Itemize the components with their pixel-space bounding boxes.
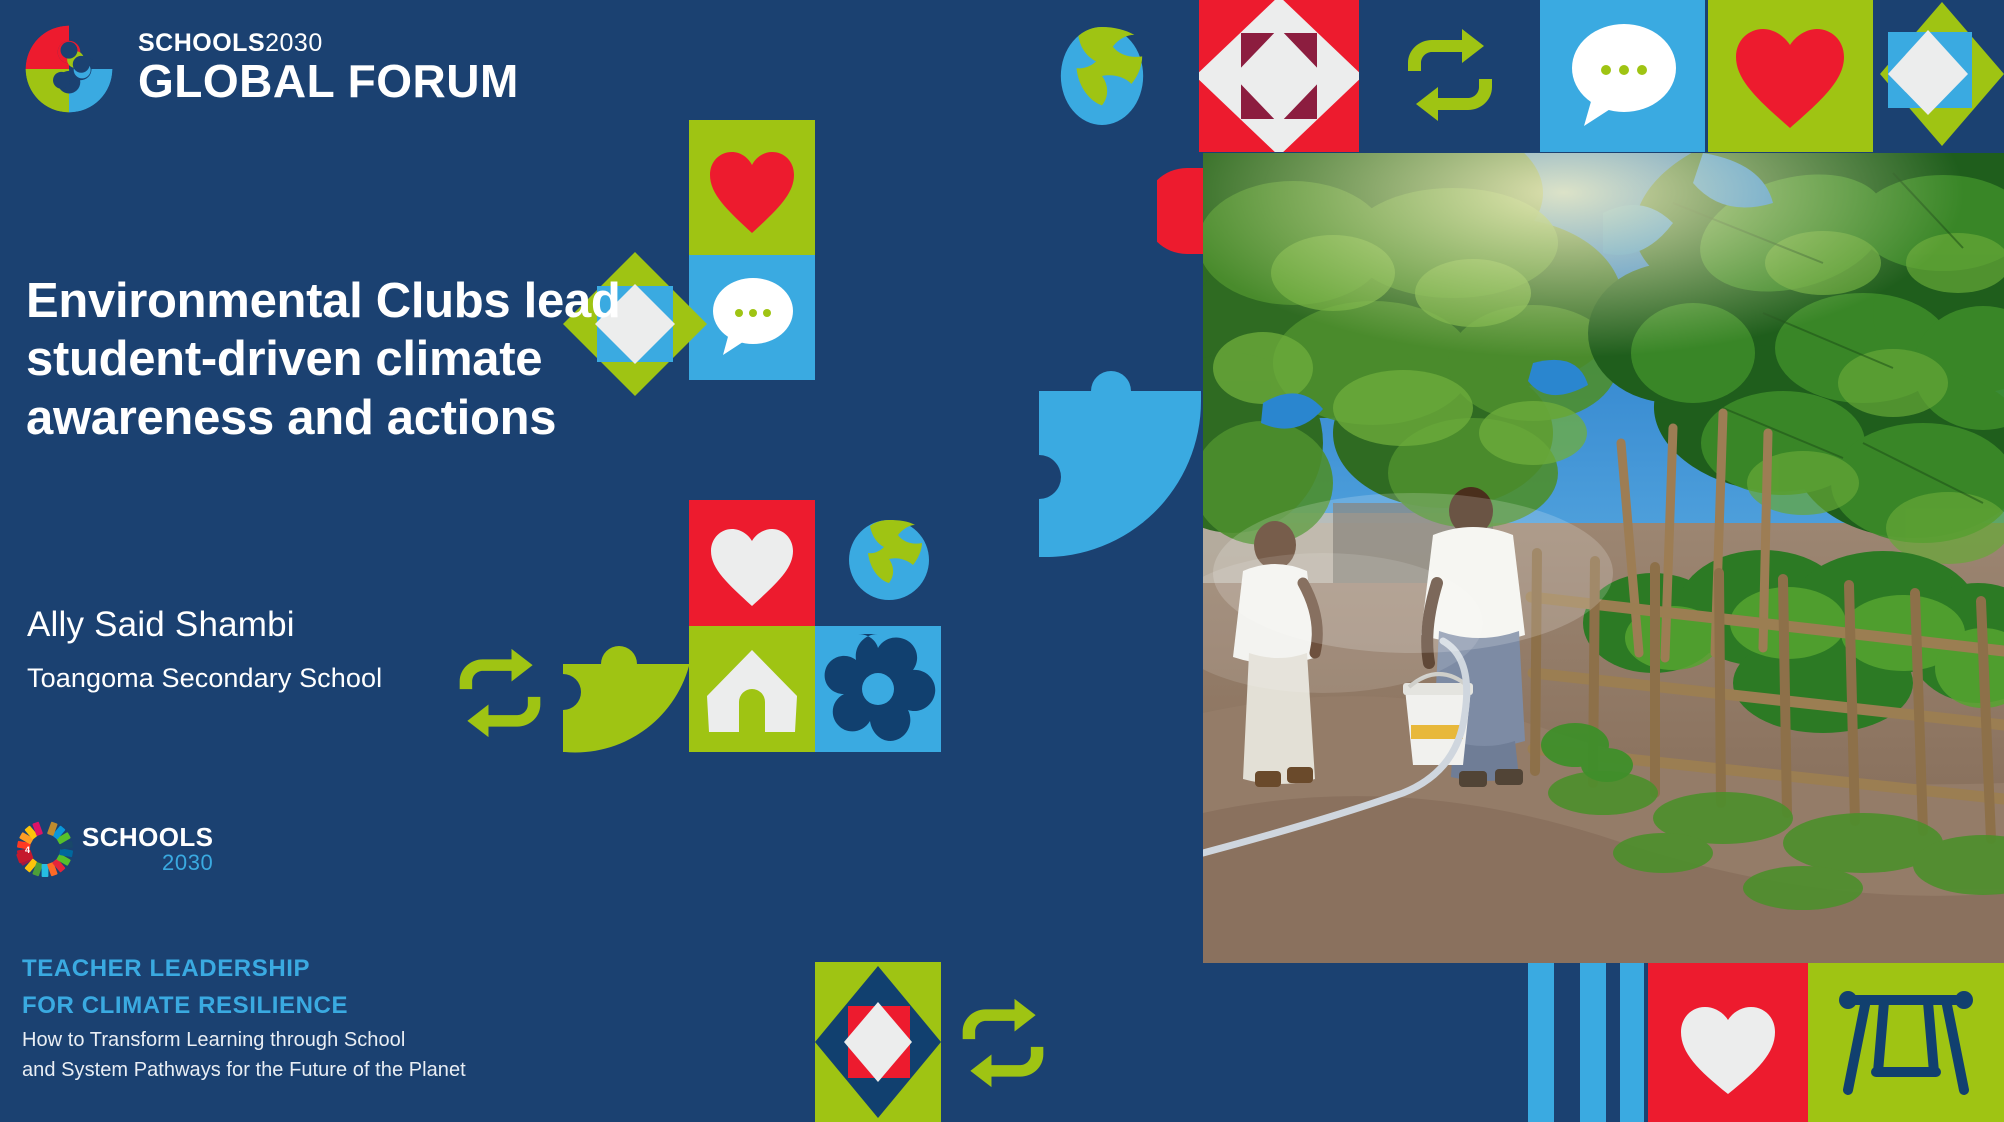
diamond-pattern-tile [1199, 0, 1359, 152]
heart-tile-red [689, 500, 815, 626]
green-puzzle-piece-icon [561, 618, 691, 753]
recycle-arrows-icon-3 [955, 995, 1051, 1091]
slide-canvas: SCHOOLS2030 GLOBAL FORUM Environmental C… [0, 0, 2004, 1122]
recycle-arrows-icon-2 [452, 645, 548, 741]
diamond-pattern-tile-2 [815, 962, 941, 1122]
blue-puzzle-piece-icon [1037, 335, 1203, 557]
swing-tile-green [1808, 962, 2004, 1122]
blurb-line-1: How to Transform Learning through School [22, 1026, 466, 1056]
recycle-arrows-icon [1400, 25, 1500, 125]
brand-global-forum: GLOBAL FORUM [138, 56, 519, 108]
speaker-name: Ally Said Shambi [27, 605, 295, 645]
brand-schools-word: SCHOOLS [138, 29, 265, 57]
brand-lockup: SCHOOLS2030 GLOBAL FORUM [22, 22, 519, 116]
event-blurb: How to Transform Learning through School… [22, 1026, 466, 1085]
globe-icon-2 [841, 512, 937, 608]
heart-tile-green [1708, 0, 1873, 152]
brand-line-schools2030: SCHOOLS2030 [138, 31, 519, 56]
blurb-line-2: and System Pathways for the Future of th… [22, 1056, 466, 1086]
tagline-line-2: FOR CLIMATE RESILIENCE [22, 987, 348, 1024]
globe-icon [1053, 17, 1151, 135]
speech-bubble-tile [1540, 0, 1705, 152]
sdg-badge-number: 4 [25, 845, 30, 855]
brand-wordmark: SCHOOLS2030 GLOBAL FORUM [138, 31, 519, 108]
heart-tile-red-2 [1648, 962, 1808, 1122]
ornament-tile-blue [815, 626, 941, 752]
brand-year: 2030 [265, 29, 323, 57]
schools2030-word-bottom: 2030 [162, 852, 213, 874]
heart-tile-green-2 [689, 120, 815, 255]
sdg-wheel-icon: 4 [14, 818, 76, 880]
house-tile-green [689, 626, 815, 752]
diamond-badge-icon [1880, 0, 2004, 152]
schools2030-wordmark: SCHOOLS 2030 [82, 824, 213, 874]
schools2030-logo: 4 SCHOOLS 2030 [14, 818, 213, 880]
tree-planting-photo [1203, 153, 2004, 963]
speaker-organisation: Toangoma Secondary School [27, 663, 382, 694]
event-tagline: TEACHER LEADERSHIP FOR CLIMATE RESILIENC… [22, 950, 348, 1024]
page-title: Environmental Clubs lead student-driven … [26, 272, 726, 447]
stripes-icon [1524, 962, 1648, 1122]
puzzle-logo-icon [22, 22, 116, 116]
schools2030-word-top: SCHOOLS [82, 824, 213, 850]
tagline-line-1: TEACHER LEADERSHIP [22, 950, 348, 987]
